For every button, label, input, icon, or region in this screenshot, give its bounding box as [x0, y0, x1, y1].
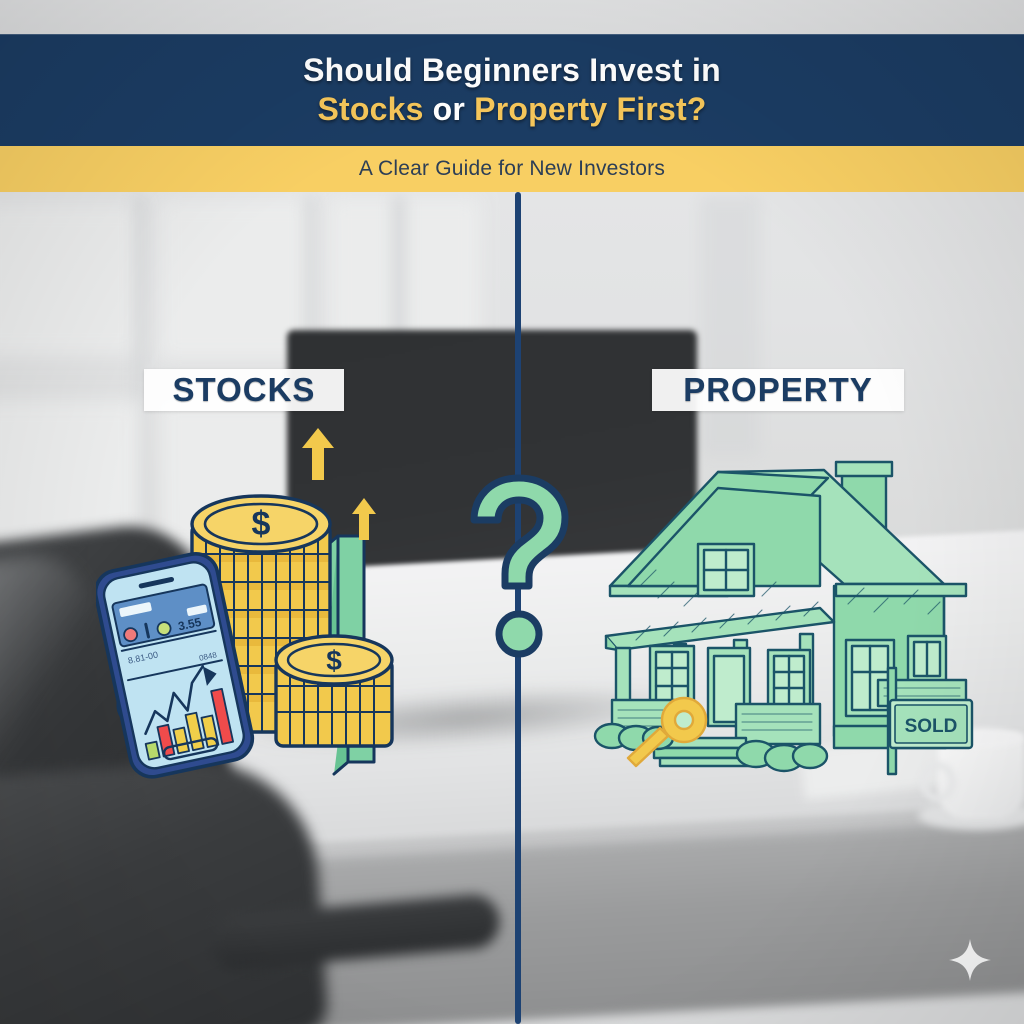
stocks-label-text: STOCKS — [173, 371, 316, 409]
porch-window-right — [768, 650, 810, 712]
sold-sign-text: SOLD — [905, 716, 958, 737]
subtitle-text: A Clear Guide for New Investors — [359, 157, 665, 181]
title-word-stocks: Stocks — [317, 91, 423, 127]
subtitle-banner: A Clear Guide for New Investors — [0, 146, 1024, 192]
title-line-2: Stocks or Property First? — [317, 92, 706, 127]
attic-window — [698, 544, 754, 596]
title-line-1: Should Beginners Invest in — [303, 53, 721, 88]
mini-bar-1 — [146, 742, 160, 760]
up-arrow-icon-small — [352, 498, 376, 540]
up-arrow-icon-large — [302, 428, 334, 480]
title-banner: Should Beginners Invest in Stocks or Pro… — [0, 34, 1024, 146]
office-chair-seat — [0, 754, 329, 1024]
shrub-right — [737, 741, 827, 771]
side-window-2 — [908, 636, 946, 682]
title-word-property-first: Property First? — [474, 91, 706, 127]
question-mark-icon — [474, 478, 565, 654]
coin-stack-small: $ — [276, 636, 392, 746]
dollar-sign-small: $ — [326, 645, 342, 676]
background-pillar — [700, 196, 760, 456]
background-window-1 — [0, 205, 140, 355]
title-word-or: or — [424, 91, 475, 127]
property-label-text: PROPERTY — [683, 371, 873, 409]
property-label-chip: PROPERTY — [652, 369, 904, 411]
property-illustration: SOLD — [588, 436, 992, 776]
stocks-illustration: $ $ — [96, 424, 436, 784]
question-mark-badge — [466, 470, 572, 660]
sparkle-icon — [948, 938, 992, 982]
stocks-label-chip: STOCKS — [144, 369, 344, 411]
infographic-canvas: Should Beginners Invest in Stocks or Pro… — [0, 0, 1024, 1024]
dollar-sign-large: $ — [252, 505, 271, 543]
top-strip — [0, 0, 1024, 34]
